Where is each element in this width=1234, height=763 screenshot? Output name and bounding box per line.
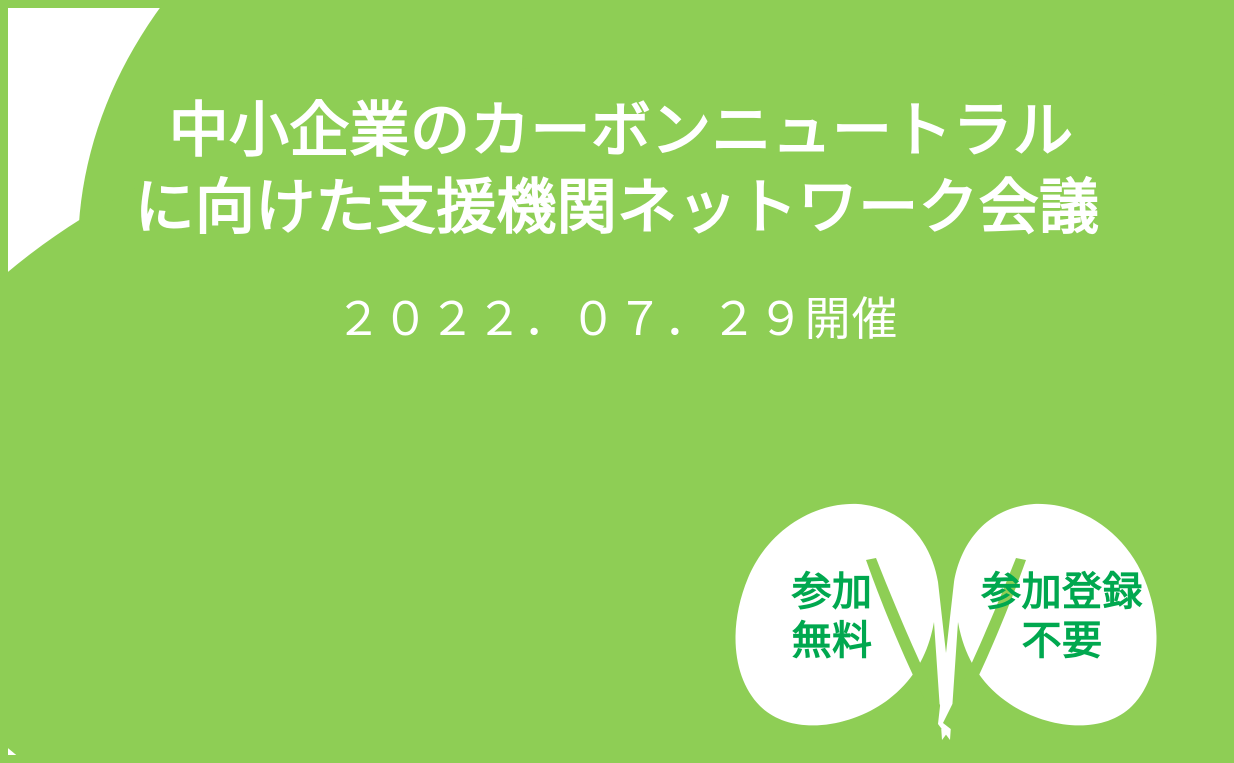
page-title-line-2: に向けた支援機関ネットワーク会議 — [0, 170, 1234, 247]
slide-canvas: 中小企業のカーボンニュートラル に向けた支援機関ネットワーク会議 ２０２２．０７… — [0, 0, 1234, 763]
badge-right: 参加登録 不要 — [962, 568, 1162, 666]
badge-left-line-1: 参加 — [752, 568, 912, 617]
badge-right-line-2: 不要 — [962, 617, 1162, 666]
badge-right-line-1: 参加登録 — [962, 568, 1162, 617]
page-title-line-1: 中小企業のカーボンニュートラル — [0, 93, 1234, 170]
badge-left: 参加 無料 — [752, 568, 912, 666]
event-date: ２０２２．０７．２９開催 — [0, 292, 1234, 347]
badge-left-line-2: 無料 — [752, 617, 912, 666]
page-title: 中小企業のカーボンニュートラル に向けた支援機関ネットワーク会議 — [0, 93, 1234, 247]
